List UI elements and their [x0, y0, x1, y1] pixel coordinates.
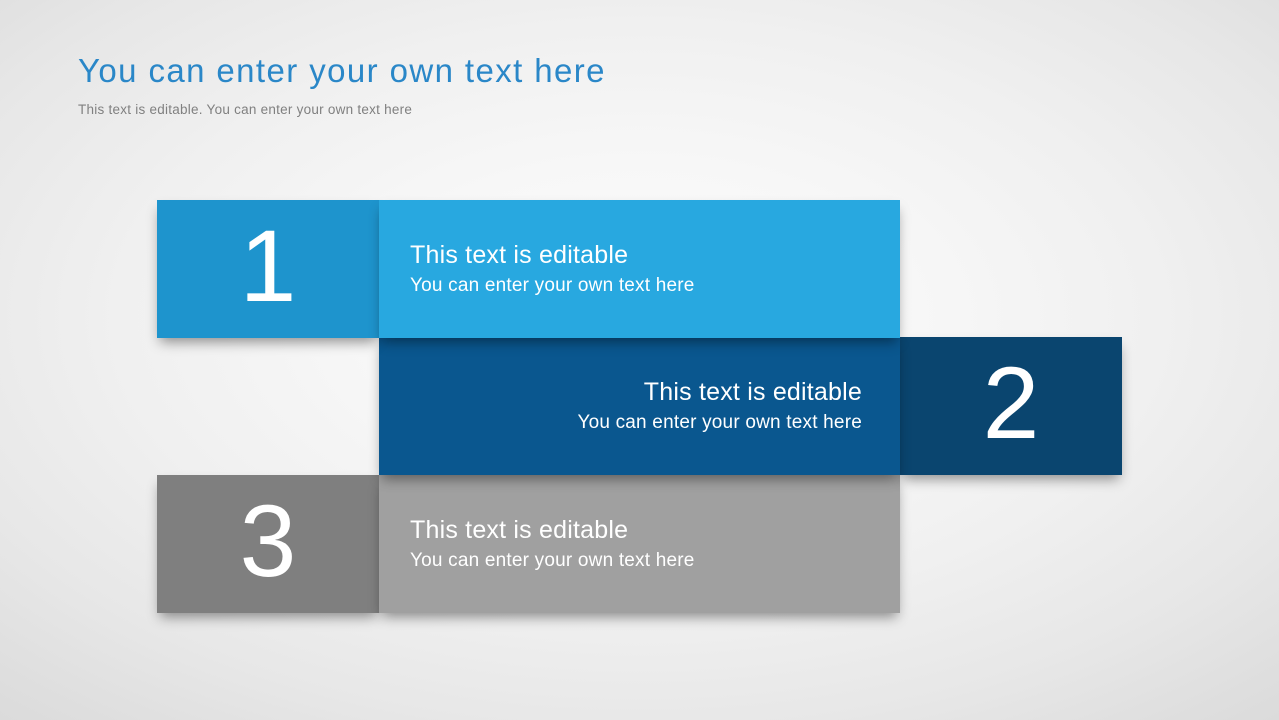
step-heading-3: This text is editable	[410, 514, 628, 546]
page-subtitle[interactable]: This text is editable. You can enter you…	[78, 92, 838, 119]
step-number-box-3[interactable]: 3	[157, 475, 379, 613]
step-description-1: You can enter your own text here	[410, 271, 695, 299]
step-number-box-1[interactable]: 1	[157, 200, 379, 338]
step-description-3: You can enter your own text here	[410, 546, 695, 574]
step-description-2: You can enter your own text here	[577, 408, 862, 436]
step-number-1: 1	[240, 215, 297, 317]
step-heading-2: This text is editable	[644, 376, 862, 408]
slide-header: You can enter your own text here This te…	[78, 50, 838, 119]
list-item-1[interactable]: 1 This text is editable You can enter yo…	[157, 200, 900, 338]
step-text-box-1[interactable]: This text is editable You can enter your…	[379, 200, 900, 338]
list-item-3[interactable]: 3 This text is editable You can enter yo…	[157, 475, 900, 613]
list-item-2[interactable]: 2 This text is editable You can enter yo…	[379, 337, 1122, 475]
step-number-3: 3	[240, 490, 297, 592]
step-text-box-3[interactable]: This text is editable You can enter your…	[379, 475, 900, 613]
step-text-box-2[interactable]: This text is editable You can enter your…	[379, 337, 900, 475]
step-heading-1: This text is editable	[410, 239, 628, 271]
page-title[interactable]: You can enter your own text here	[78, 50, 838, 92]
step-number-2: 2	[983, 352, 1040, 454]
step-number-box-2[interactable]: 2	[900, 337, 1122, 475]
slide-canvas: You can enter your own text here This te…	[0, 0, 1279, 720]
